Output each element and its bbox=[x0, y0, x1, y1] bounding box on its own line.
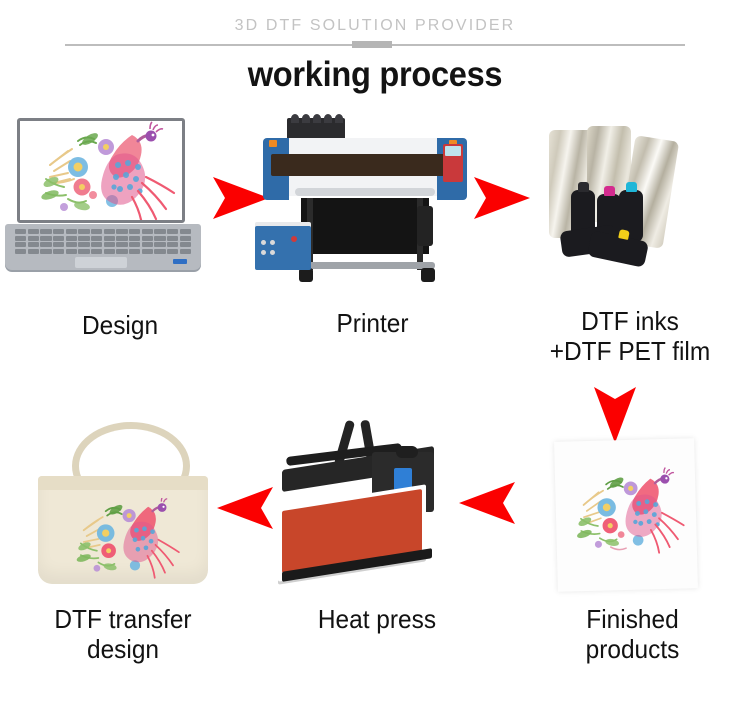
printer-control-box bbox=[417, 206, 433, 246]
printer-view-window bbox=[271, 154, 449, 176]
ink-bottles-and-film-rolls-illustration bbox=[515, 112, 730, 297]
bag-top-band bbox=[38, 476, 208, 490]
step-design: Design bbox=[5, 118, 235, 333]
step-label-design: Design bbox=[12, 310, 228, 340]
step-dtf-transfer-design: DTF transfer design bbox=[8, 418, 238, 668]
step-label-inks: DTF inks +DTF PET film bbox=[522, 306, 738, 366]
laptop-screen bbox=[17, 118, 185, 223]
ink-bottle-cap-magenta bbox=[604, 186, 615, 196]
step-printer: Printer bbox=[255, 110, 490, 333]
laptop-keyboard bbox=[15, 229, 191, 254]
printer-feed-roller bbox=[295, 188, 435, 196]
printer-dryer-unit bbox=[255, 226, 311, 270]
step-finished-products: Finished products bbox=[520, 440, 745, 668]
printer-bottom-bar bbox=[297, 262, 435, 269]
printer-dryer-power-light bbox=[291, 236, 297, 242]
dtf-printer-illustration bbox=[255, 110, 480, 300]
step-label-printer: Printer bbox=[262, 308, 483, 338]
laptop-base bbox=[5, 224, 201, 270]
step-label-heatpress: Heat press bbox=[269, 604, 485, 634]
laptop-trackpad bbox=[75, 257, 127, 268]
printer-left-orange-accent bbox=[269, 140, 277, 147]
heat-press-pressure-knob[interactable] bbox=[396, 446, 418, 458]
printer-caster-right bbox=[421, 268, 435, 282]
printer-under-shelf bbox=[301, 198, 429, 254]
printed-transfer-sheet-illustration bbox=[556, 440, 696, 590]
peacock-artwork-on-screen bbox=[20, 121, 182, 220]
step-inks-and-film: DTF inks +DTF PET film bbox=[515, 112, 745, 363]
printer-caster-left bbox=[299, 268, 313, 282]
header-eyebrow: 3D DTF SOLUTION PROVIDER bbox=[0, 17, 750, 35]
printer-panel-screen bbox=[445, 146, 461, 156]
ink-bottle-cap-cyan bbox=[626, 182, 637, 192]
ink-bottle-cap-yellow bbox=[618, 229, 630, 240]
arrow-down-icon-inks-to-finished bbox=[592, 385, 638, 445]
heat-press-illustration bbox=[268, 420, 473, 595]
peacock-artwork-on-bag bbox=[64, 498, 184, 580]
step-label-bag: DTF transfer design bbox=[15, 604, 231, 664]
peacock-artwork-on-sheet bbox=[562, 452, 689, 573]
page-title: working process bbox=[26, 55, 724, 95]
step-heat-press: Heat press bbox=[262, 420, 492, 668]
step-label-finished: Finished products bbox=[527, 604, 739, 664]
laptop-with-design-illustration bbox=[5, 118, 215, 288]
ink-bottle-cap-black bbox=[578, 182, 589, 192]
transfer-sheet bbox=[554, 438, 698, 592]
tote-bag-illustration bbox=[18, 418, 228, 593]
page-header: 3D DTF SOLUTION PROVIDER working process bbox=[0, 0, 750, 110]
header-divider-center-block bbox=[352, 41, 392, 48]
printer-control-panel[interactable] bbox=[443, 144, 463, 182]
printer-ink-rail bbox=[287, 118, 345, 140]
laptop-led-indicator bbox=[173, 259, 187, 264]
